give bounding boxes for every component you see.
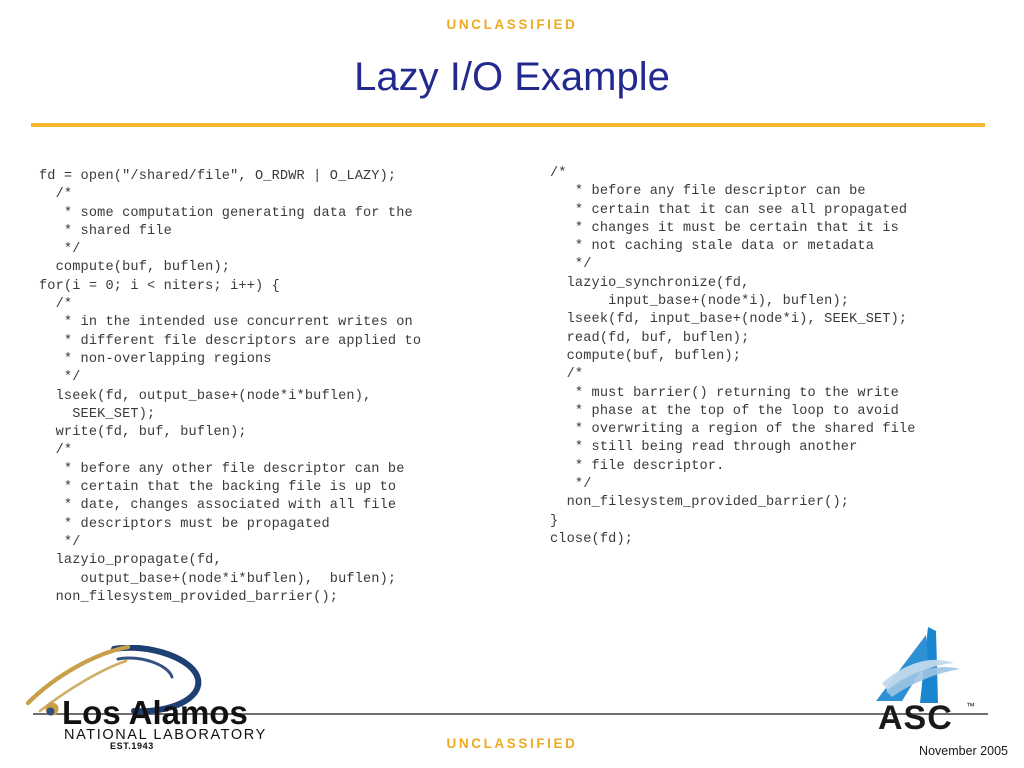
code-line: * some computation generating data for t… (39, 205, 539, 223)
code-line: /* (550, 366, 1020, 384)
asc-trademark: ™ (966, 701, 975, 711)
asc-logo: ASC ™ (862, 625, 987, 733)
code-line: * overwriting a region of the shared fil… (550, 421, 1020, 439)
code-line: lazyio_synchronize(fd, (550, 275, 1020, 293)
page-title: Lazy I/O Example (0, 55, 1024, 100)
code-line: */ (39, 534, 539, 552)
classification-banner-top: UNCLASSIFIED (0, 17, 1024, 32)
code-line: * changes it must be certain that it is (550, 220, 1020, 238)
code-line: */ (550, 256, 1020, 274)
code-line: * certain that it can see all propagated (550, 202, 1020, 220)
code-line: /* (39, 186, 539, 204)
code-line: * in the intended use concurrent writes … (39, 314, 539, 332)
los-alamos-logo: Los Alamos NATIONAL LABORATORY EST.1943 (22, 645, 272, 750)
code-line: lazyio_propagate(fd, (39, 552, 539, 570)
code-block-right: /* * before any file descriptor can be *… (550, 165, 1020, 549)
code-line: lseek(fd, input_base+(node*i), SEEK_SET)… (550, 311, 1020, 329)
code-line: */ (39, 241, 539, 259)
code-line: non_filesystem_provided_barrier(); (39, 589, 539, 607)
code-block-left: fd = open("/shared/file", O_RDWR | O_LAZ… (39, 168, 539, 607)
code-line: /* (39, 442, 539, 460)
code-line: * before any other file descriptor can b… (39, 461, 539, 479)
code-line: compute(buf, buflen); (39, 259, 539, 277)
code-line: non_filesystem_provided_barrier(); (550, 494, 1020, 512)
code-line: for(i = 0; i < niters; i++) { (39, 278, 539, 296)
code-line: /* (39, 296, 539, 314)
code-line: */ (39, 369, 539, 387)
lanl-wordmark: Los Alamos (62, 694, 248, 731)
slide: UNCLASSIFIED Lazy I/O Example fd = open(… (0, 0, 1024, 768)
code-line: * certain that the backing file is up to (39, 479, 539, 497)
code-line: SEEK_SET); (39, 406, 539, 424)
code-line: * not caching stale data or metadata (550, 238, 1020, 256)
code-line: input_base+(node*i), buflen); (550, 293, 1020, 311)
code-line: output_base+(node*i*buflen), buflen); (39, 571, 539, 589)
code-line: fd = open("/shared/file", O_RDWR | O_LAZ… (39, 168, 539, 186)
slide-date: November 2005 (919, 744, 1008, 758)
classification-banner-bottom: UNCLASSIFIED (0, 736, 1024, 751)
code-line: /* (550, 165, 1020, 183)
code-line: } (550, 513, 1020, 531)
code-line: * before any file descriptor can be (550, 183, 1020, 201)
code-line: * still being read through another (550, 439, 1020, 457)
code-line: * different file descriptors are applied… (39, 333, 539, 351)
asc-wordmark: ASC (878, 699, 953, 733)
code-line: * file descriptor. (550, 458, 1020, 476)
code-line: * descriptors must be propagated (39, 516, 539, 534)
code-line: * must barrier() returning to the write (550, 385, 1020, 403)
code-line: * date, changes associated with all file (39, 497, 539, 515)
code-line: */ (550, 476, 1020, 494)
code-line: read(fd, buf, buflen); (550, 330, 1020, 348)
code-line: * non-overlapping regions (39, 351, 539, 369)
code-line: lseek(fd, output_base+(node*i*buflen), (39, 388, 539, 406)
code-line: write(fd, buf, buflen); (39, 424, 539, 442)
code-line: * phase at the top of the loop to avoid (550, 403, 1020, 421)
code-line: compute(buf, buflen); (550, 348, 1020, 366)
code-line: close(fd); (550, 531, 1020, 549)
code-line: * shared file (39, 223, 539, 241)
title-divider (31, 123, 985, 127)
